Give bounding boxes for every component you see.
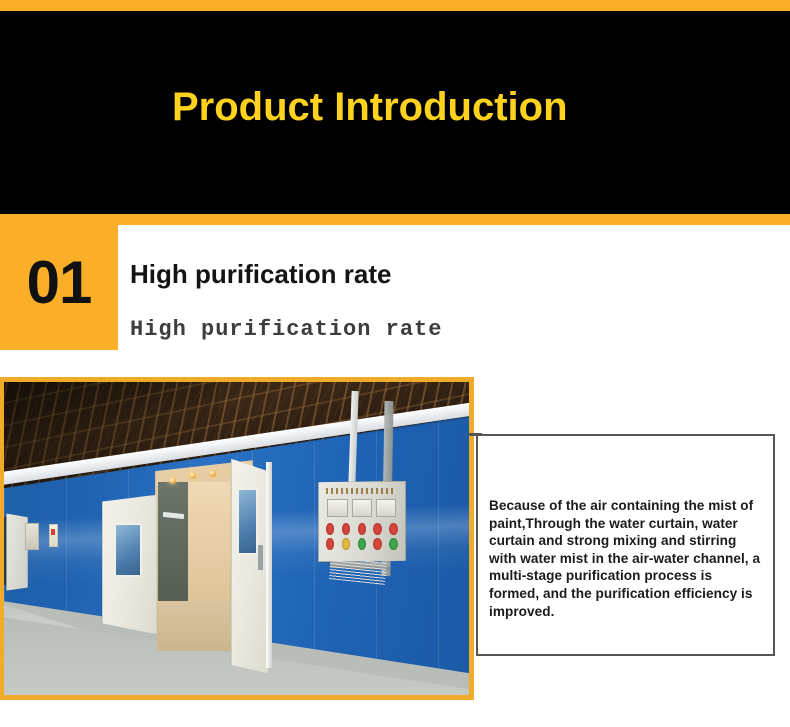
photo-indicator-light xyxy=(358,538,367,550)
section-heading: High purification rate xyxy=(130,258,391,290)
top-accent-bar xyxy=(0,0,790,11)
photo-indicator-light xyxy=(389,538,398,550)
description-text: Because of the air containing the mist o… xyxy=(489,497,762,620)
photo-indicator-light xyxy=(326,523,335,535)
photo-door-right-edge xyxy=(266,462,273,669)
description-box: Because of the air containing the mist o… xyxy=(476,434,775,656)
photo-indicator-light xyxy=(342,523,351,535)
product-photo xyxy=(4,382,469,695)
photo-lamp xyxy=(189,472,196,479)
photo-wall-sign xyxy=(49,524,58,546)
photo-control-panel-buttons xyxy=(326,523,398,550)
photo-indicator-light xyxy=(389,523,398,535)
section-number-badge: 01 xyxy=(0,225,118,350)
page-title: Product Introduction xyxy=(172,81,568,133)
photo-lamp xyxy=(209,470,216,477)
section-number: 01 xyxy=(0,249,118,317)
section-accent-bar xyxy=(0,214,790,225)
photo-interior-shadow xyxy=(158,482,188,607)
photo-indicator-light xyxy=(358,523,367,535)
photo-lamp xyxy=(169,477,176,484)
product-photo-frame xyxy=(0,377,474,700)
photo-far-junction-box xyxy=(25,523,39,550)
photo-control-panel-label xyxy=(326,488,393,494)
title-banner: Product Introduction xyxy=(0,11,790,214)
photo-door-handle xyxy=(258,545,263,570)
photo-indicator-light xyxy=(373,523,382,535)
photo-door-left-window xyxy=(114,523,142,577)
photo-indicator-light xyxy=(373,538,382,550)
photo-indicator-light xyxy=(326,538,335,550)
photo-control-panel-meters xyxy=(327,499,396,517)
photo-indicator-light xyxy=(342,538,351,550)
photo-meter xyxy=(376,499,396,517)
section-subheading: High purification rate xyxy=(130,316,442,344)
photo-meter xyxy=(327,499,347,517)
photo-control-panel xyxy=(318,481,406,563)
photo-interior-wall xyxy=(188,482,230,613)
photo-door-right-window xyxy=(237,488,258,555)
photo-meter xyxy=(352,499,372,517)
